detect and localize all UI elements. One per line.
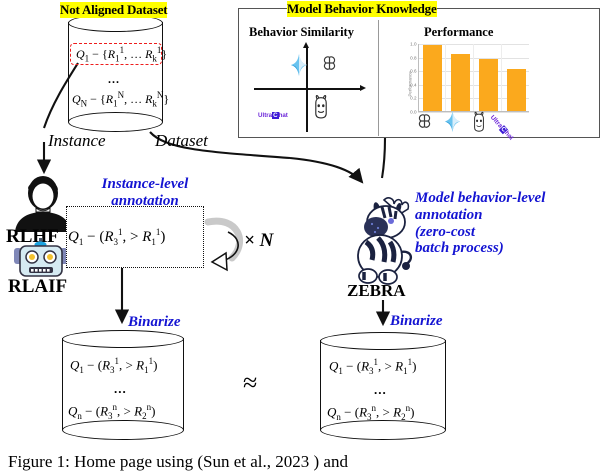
performance-bar-chart: Performance 1.0 0.8 0.6 0.4 0.2 0.0 (397, 42, 537, 136)
left-result-row-n: Qn − (R3n, > R2n) (68, 402, 155, 421)
model-behavior-annotation-label: Model behavior-level annotation (zero-co… (415, 190, 545, 257)
chart-bar (451, 54, 470, 113)
chart-y-axis-line (418, 44, 419, 112)
cylinder-top-ellipse (320, 332, 446, 350)
right-binarize-label: Binarize (390, 313, 443, 330)
quadrant-plot: UltraChat (250, 42, 372, 134)
ultrachat-c-badge: C (499, 125, 509, 135)
chart-ytick: 0.2 (410, 96, 418, 101)
not-aligned-dataset-title: Not Aligned Dataset (60, 2, 167, 18)
ultrachat-c-badge: C (272, 112, 278, 119)
chart-xtick-gemini-sparkle-icon (444, 111, 461, 132)
gemini-sparkle-icon (290, 54, 308, 76)
chart-plot-area: 1.0 0.8 0.6 0.4 0.2 0.0 (418, 44, 529, 112)
zebra-label: ZEBRA (347, 281, 406, 301)
model-behavior-knowledge-title: Model Behavior Knowledge (287, 1, 437, 17)
right-result-row-1: Q1 − (R31, > R11) (329, 357, 416, 376)
right-result-ellipsis: ... (374, 382, 387, 398)
behavior-similarity-title: Behavior Similarity (249, 25, 354, 40)
chart-ytick: 0.4 (410, 82, 418, 87)
dataset-row-ellipsis: ... (108, 72, 120, 87)
figure-caption: Figure 1: Home page using (Sun et al., 2… (8, 452, 348, 472)
instance-annotation-formula: Q1 − (R31, > R11) (68, 227, 165, 247)
approx-equal-symbol: ≈ (243, 368, 257, 398)
edge-label-instance: Instance (48, 131, 106, 151)
cylinder-bottom-ellipse (68, 112, 163, 132)
left-result-row-1: Q1 − (R31, > R11) (70, 356, 157, 375)
instance-level-annotation-label: Instance-level annotation (80, 176, 210, 210)
right-result-row-n: Qn − (R3n, > R2n) (327, 403, 414, 422)
performance-title: Performance (424, 25, 493, 40)
left-binarize-label: Binarize (128, 314, 181, 331)
cylinder-bottom-ellipse (320, 420, 446, 440)
chart-bar (479, 59, 498, 112)
chart-ytick: 1.0 (410, 42, 418, 47)
knowledge-box-divider (378, 20, 379, 136)
dataset-row-1: Q1 − {R11, … Rk1} (76, 45, 167, 63)
left-result-ellipsis: ... (114, 381, 127, 397)
chart-ytick: 0.8 (410, 55, 418, 60)
dataset-row-n: QN − {R1N, … RkN} (72, 90, 169, 108)
chart-y-axis-label: Performance (408, 57, 413, 97)
chart-bar (423, 45, 442, 112)
chart-xtick-openai-icon (415, 112, 434, 131)
cylinder-top-ellipse (62, 330, 184, 348)
quadrant-x-arrowhead (360, 85, 366, 91)
chart-bar (507, 69, 526, 113)
edge-label-dataset: Dataset (155, 131, 208, 151)
vgridline (473, 44, 474, 112)
vgridline (501, 44, 502, 112)
zebra-mascot-icon (344, 194, 422, 286)
llama-icon (312, 94, 330, 120)
vgridline (445, 44, 446, 112)
figure-root: Not Aligned Dataset Q1 − {R11, … Rk1} ..… (0, 0, 604, 468)
loop-multiplier-label: × N (244, 230, 273, 252)
chart-ytick: 0.6 (410, 69, 418, 74)
cylinder-bottom-ellipse (62, 420, 184, 440)
quadrant-y-arrowhead (303, 42, 309, 48)
openai-icon (320, 54, 339, 73)
chart-xtick-llama-icon (471, 111, 487, 133)
rlaif-label: RLAIF (8, 276, 67, 298)
ultrachat-logo: UltraChat (258, 112, 288, 119)
